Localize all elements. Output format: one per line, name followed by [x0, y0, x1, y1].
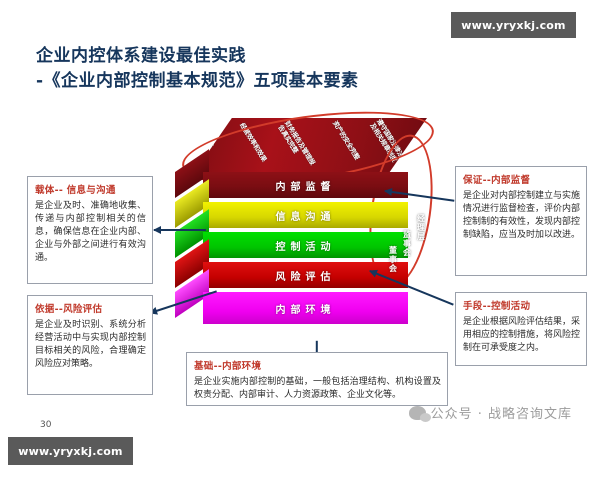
wechat-footer: 公众号 · 战略咨询文库 [409, 403, 572, 422]
callout-means-heading: 手段--控制活动 [463, 298, 580, 312]
cube-layer-1-label: 信息沟通 [276, 208, 336, 223]
cube-org-unit-2: 经理层 [417, 214, 426, 241]
cube-layer-0-label: 内部监督 [276, 178, 336, 193]
cube-layer-3-label: 风险评估 [276, 268, 336, 283]
wechat-label: 公众号 · 战略咨询文库 [431, 403, 572, 422]
cube-layer-0-face: 内部监督 [203, 172, 408, 198]
callout-basis-heading: 依据--风险评估 [35, 301, 146, 315]
cube-org-unit-0: 董事会 [389, 246, 398, 273]
watermark-top: www.yryxkj.com [451, 12, 576, 38]
watermark-bottom: www.yryxkj.com [8, 437, 133, 465]
page-title-line1: 企业内控体系建设最佳实践 [36, 46, 246, 66]
callout-means-body: 是企业根据风险评估结果，采用相应的控制措施，将风险控制在可承受度之内。 [463, 316, 580, 355]
callout-basis: 依据--风险评估 是企业及时识别、系统分析经营活动中与实现内部控制目标相关的风险… [27, 295, 153, 395]
callout-carrier-body: 是企业及时、准确地收集、传递与内部控制相关的信息，确保信息在企业内部、企业与外部… [35, 200, 146, 265]
callout-foundation-body: 是企业实施内部控制的基础，一般包括治理结构、机构设置及权责分配、内部审计、人力资… [194, 376, 441, 401]
page-title-line2: -《企业内部控制基本规范》五项基本要素 [36, 69, 466, 94]
slide-canvas: www.yryxkj.com 企业内控体系建设最佳实践 -《企业内部控制基本规范… [0, 0, 600, 480]
internal-control-cube: 企业战略 经营效率和效果 财务报告及管理报告真实完整 资产的安全完整 遵守国家法… [175, 118, 440, 358]
cube-layer-4-label: 内部环境 [276, 301, 336, 316]
cube-layer-2-label: 控制活动 [276, 238, 336, 253]
callout-means: 手段--控制活动 是企业根据风险评估结果，采用相应的控制措施，将风险控制在可承受… [455, 292, 587, 366]
callout-carrier: 载体-- 信息与沟通 是企业及时、准确地收集、传递与内部控制相关的信息，确保信息… [27, 176, 153, 284]
cube-layer-3-face: 风险评估 [203, 262, 408, 288]
cube-layer-4-face: 内部环境 [203, 292, 408, 324]
callout-foundation: 基础--内部环境 是企业实施内部控制的基础，一般包括治理结构、机构设置及权责分配… [186, 352, 448, 406]
arrow-to-carrier [154, 229, 206, 231]
callout-foundation-heading: 基础--内部环境 [194, 358, 441, 372]
callout-basis-body: 是企业及时识别、系统分析经营活动中与实现内部控制目标相关的风险，合理确定风险应对… [35, 319, 146, 371]
callout-guarantee: 保证--内部监督 是企业对内部控制建立与实施情况进行监督检查，评价内部控制制的有… [455, 166, 587, 276]
page-title: 企业内控体系建设最佳实践 -《企业内部控制基本规范》五项基本要素 [36, 44, 466, 94]
callout-guarantee-heading: 保证--内部监督 [463, 172, 580, 186]
callout-guarantee-body: 是企业对内部控制建立与实施情况进行监督检查，评价内部控制制的有效性，发现内部控制… [463, 190, 580, 242]
page-number: 30 [40, 420, 51, 430]
cube-layer-2-face: 控制活动 [203, 232, 408, 258]
cube-org-unit-1: 监事会 [403, 230, 412, 257]
wechat-icon [409, 406, 426, 420]
callout-carrier-heading: 载体-- 信息与沟通 [35, 182, 146, 196]
cube-layer-1-face: 信息沟通 [203, 202, 408, 228]
